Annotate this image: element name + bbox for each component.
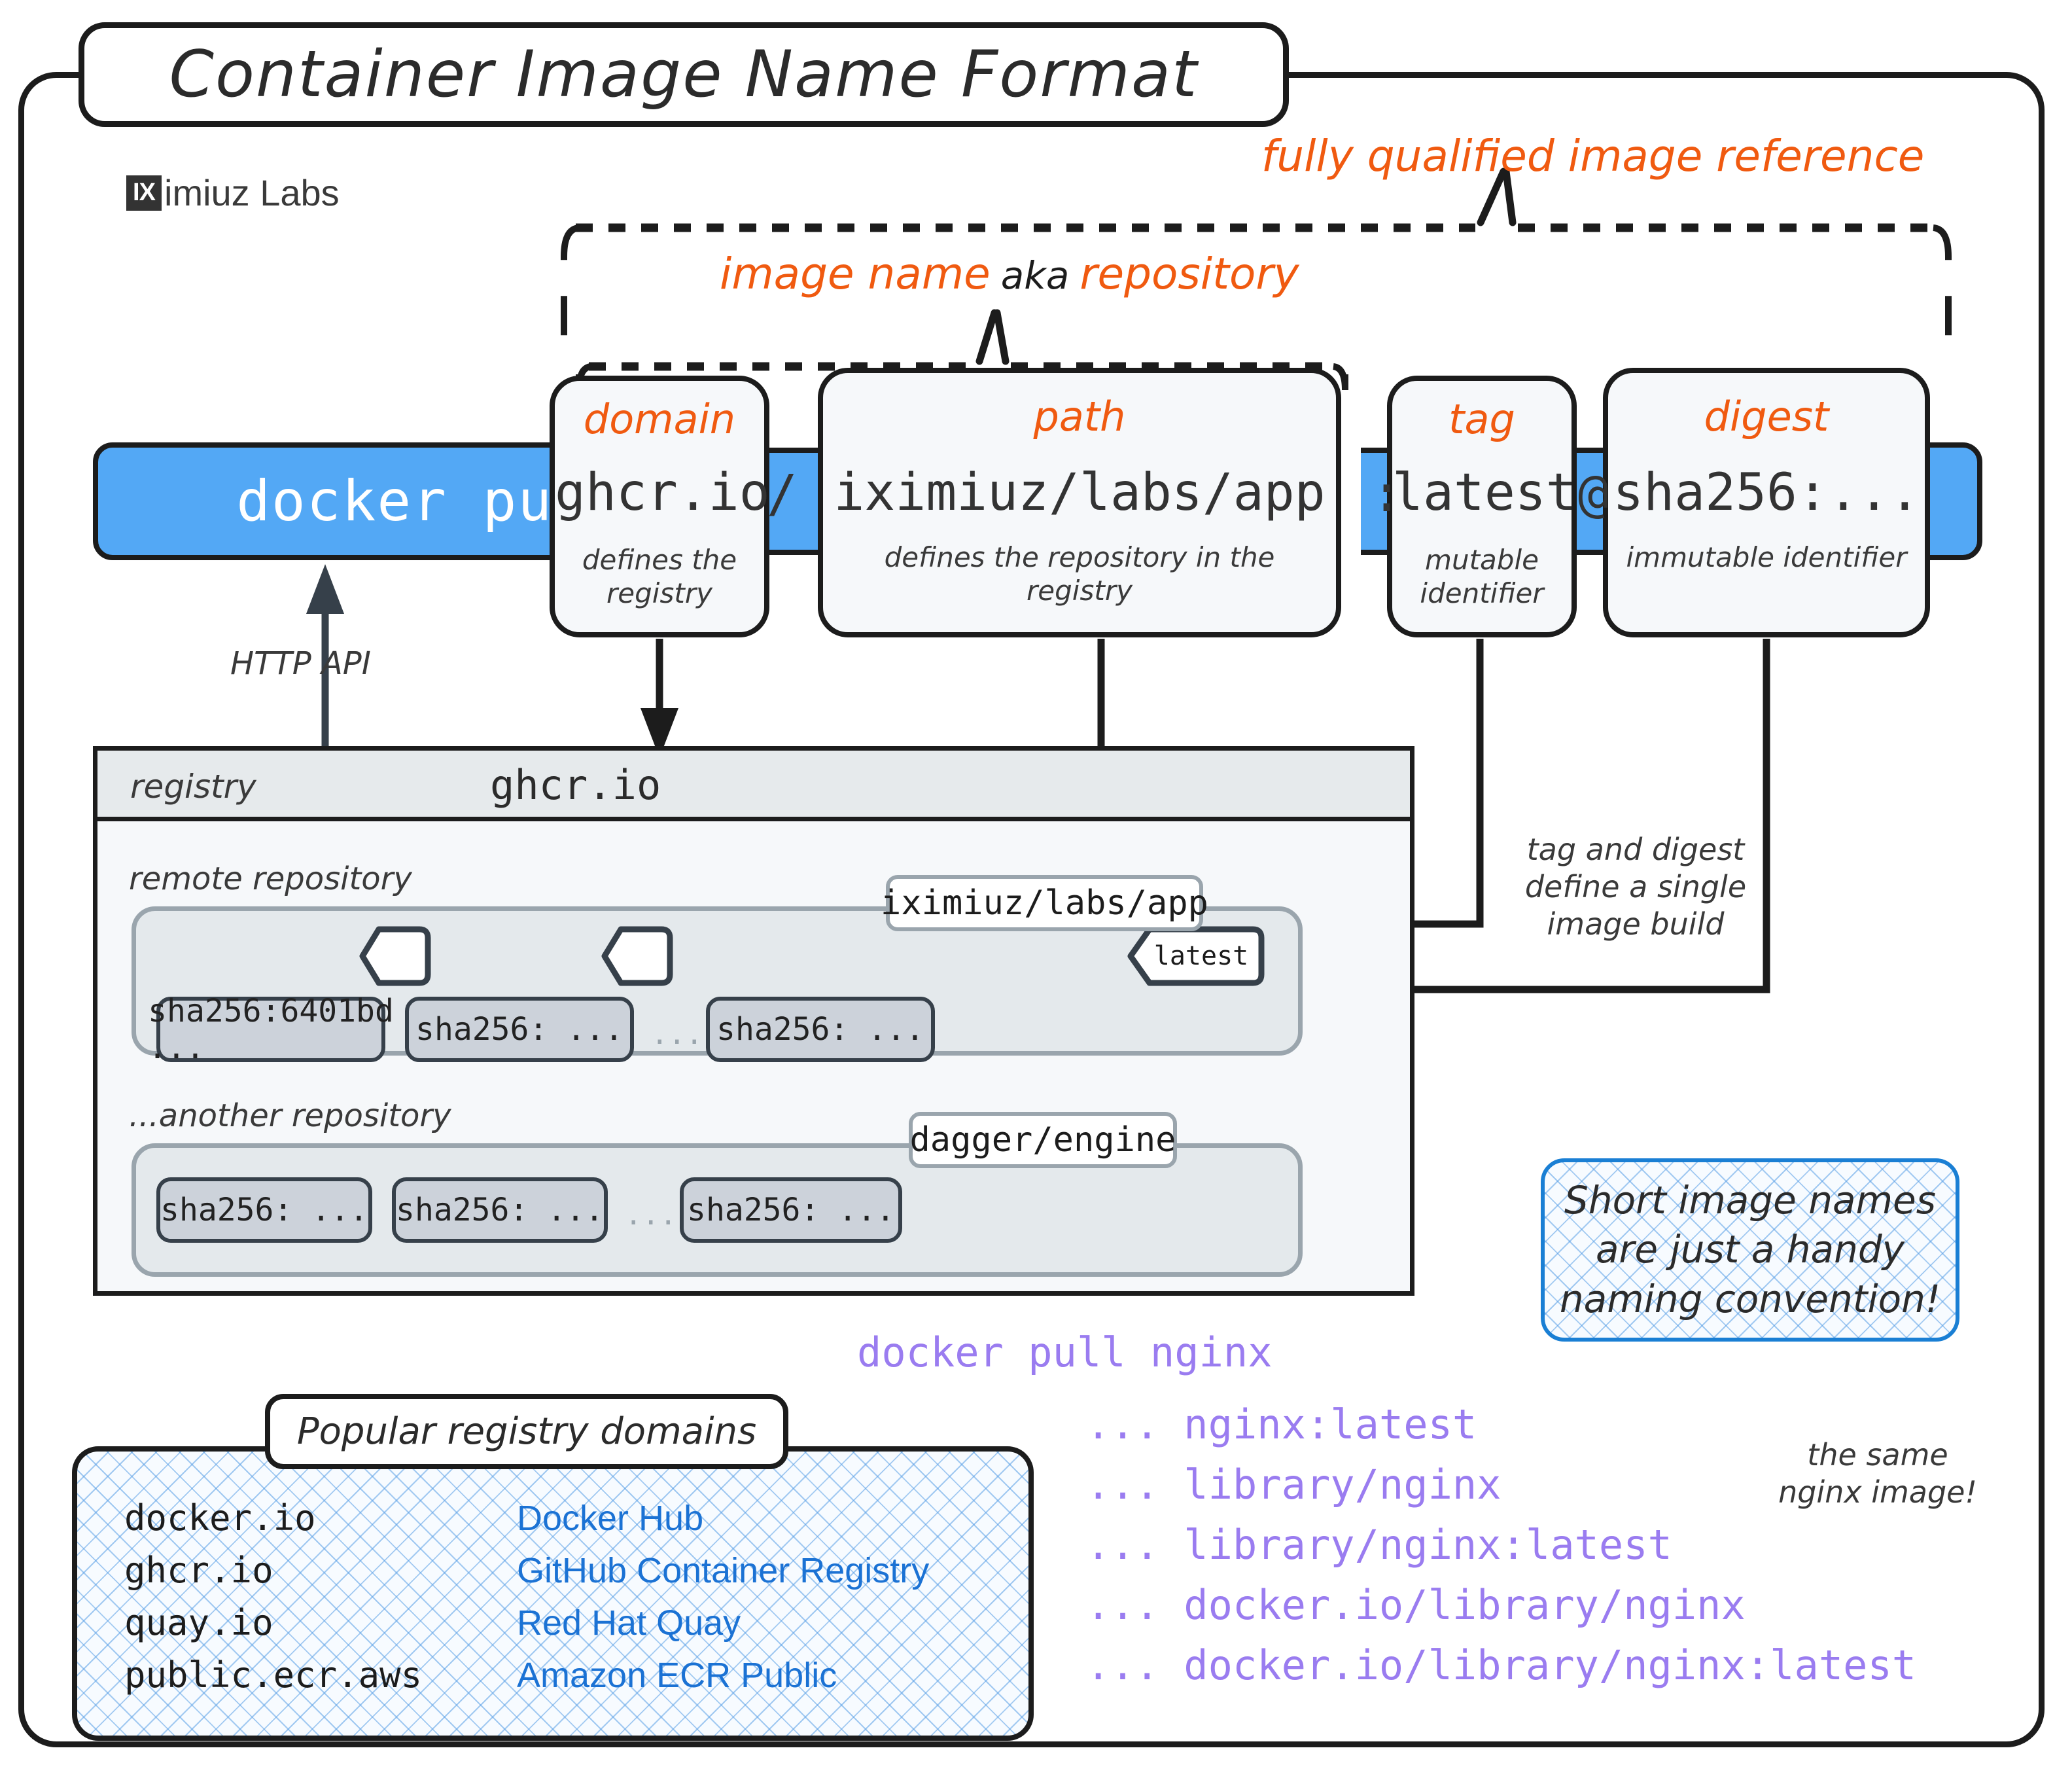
- card-digest: digest sha256:... immutable identifier: [1603, 368, 1930, 637]
- separator-at: @: [1578, 465, 1609, 524]
- tag-chip-latest: latest: [1127, 926, 1265, 986]
- card-path-sub: defines the repository in the registry: [823, 541, 1336, 607]
- card-path-label: path: [823, 393, 1336, 440]
- nginx-example-row: ... docker.io/library/nginx:latest: [1086, 1641, 1916, 1702]
- card-domain: domain ghcr.io defines the registry: [550, 376, 769, 637]
- card-domain-sub: defines the registry: [555, 543, 764, 610]
- tag-chip-latest-label: latest: [1144, 941, 1249, 971]
- card-digest-label: digest: [1608, 393, 1925, 440]
- digest-chip: sha256: ...: [680, 1177, 902, 1243]
- card-tag: tag latest mutable identifier: [1387, 376, 1577, 637]
- domain-row: docker.io Docker Hub: [124, 1497, 929, 1550]
- card-path: path iximiuz/labs/app defines the reposi…: [818, 368, 1341, 637]
- card-domain-code: ghcr.io: [555, 463, 764, 522]
- brand-name: imiuz Labs: [164, 171, 340, 214]
- card-digest-code: sha256:...: [1608, 463, 1925, 522]
- domain-key: quay.io: [124, 1602, 517, 1643]
- domain-row: quay.io Red Hat Quay: [124, 1602, 929, 1654]
- card-domain-label: domain: [555, 395, 764, 443]
- domain-key: ghcr.io: [124, 1550, 517, 1591]
- tag-digest-note: tag and digest define a single image bui…: [1498, 831, 1773, 943]
- http-api-label: HTTP API: [230, 645, 371, 684]
- popular-domains-title: Popular registry domains: [297, 1410, 756, 1453]
- domain-name: Red Hat Quay: [517, 1603, 741, 1643]
- nginx-examples-title: docker pull nginx: [857, 1328, 1273, 1376]
- domain-row: public.ecr.aws Amazon ECR Public: [124, 1654, 929, 1707]
- domain-row: ghcr.io GitHub Container Registry: [124, 1550, 929, 1602]
- same-image-note: the same nginx image!: [1766, 1436, 1989, 1511]
- domain-key: public.ecr.aws: [124, 1654, 517, 1696]
- repo-1-name: iximiuz/labs/app: [886, 875, 1203, 931]
- card-tag-code: latest: [1392, 463, 1572, 522]
- domain-name: Docker Hub: [517, 1498, 703, 1539]
- digest-chip: sha256: ...: [706, 997, 935, 1062]
- repo-1-caption: remote repository: [129, 861, 412, 897]
- separator-slash: /: [767, 465, 798, 524]
- card-tag-label: tag: [1392, 395, 1572, 443]
- nginx-example-row: ... library/nginx:latest: [1086, 1521, 1916, 1581]
- page-title: Container Image Name Format: [169, 37, 1199, 112]
- separator-colon: :: [1371, 465, 1402, 524]
- digest-chip: sha256:6401bd ...: [156, 997, 385, 1062]
- card-path-code: iximiuz/labs/app: [823, 463, 1336, 522]
- registry-header: registry ghcr.io: [97, 751, 1410, 821]
- popular-domains-list: docker.io Docker Hub ghcr.io GitHub Cont…: [124, 1497, 929, 1707]
- annotation-image-name-text: image name: [720, 249, 991, 299]
- repo-2-caption: ...another repository: [129, 1097, 451, 1134]
- annotation-fully-qualified: fully qualified image reference: [1261, 131, 1924, 181]
- tag-chip-empty-1: [359, 926, 431, 986]
- annotation-aka-text: aka: [1001, 253, 1070, 298]
- diagram-title-box: Container Image Name Format: [79, 22, 1289, 127]
- tag-chip-empty-2: [601, 926, 673, 986]
- domain-name: Amazon ECR Public: [517, 1655, 837, 1696]
- popular-domains-title-box: Popular registry domains: [265, 1394, 788, 1469]
- digest-chip: sha256: ...: [392, 1177, 608, 1243]
- domain-name: GitHub Container Registry: [517, 1550, 929, 1591]
- digest-chip: sha256: ...: [156, 1177, 372, 1243]
- domain-key: docker.io: [124, 1497, 517, 1539]
- short-names-note: Short image names are just a handy namin…: [1541, 1158, 1959, 1342]
- digest-ellipsis: ...: [625, 1198, 676, 1232]
- nginx-example-row: ... docker.io/library/nginx: [1086, 1581, 1916, 1641]
- registry-domain-value: ghcr.io: [490, 761, 661, 809]
- card-digest-sub: immutable identifier: [1608, 541, 1925, 574]
- annotation-repository-text: repository: [1080, 249, 1299, 299]
- digest-chip: sha256: ...: [405, 997, 634, 1062]
- repo-2-name: dagger/engine: [909, 1112, 1177, 1168]
- short-names-note-text: Short image names are just a handy namin…: [1545, 1162, 1956, 1338]
- digest-ellipsis: ...: [651, 1018, 703, 1051]
- ix-logo-icon: IX: [126, 175, 162, 211]
- card-tag-sub: mutable identifier: [1392, 543, 1572, 610]
- annotation-image-name: image name aka repository: [720, 249, 1299, 299]
- registry-keyword: registry: [130, 768, 256, 806]
- brand-logo: IX imiuz Labs: [126, 171, 340, 214]
- registry-panel: registry ghcr.io remote repository iximi…: [93, 746, 1414, 1296]
